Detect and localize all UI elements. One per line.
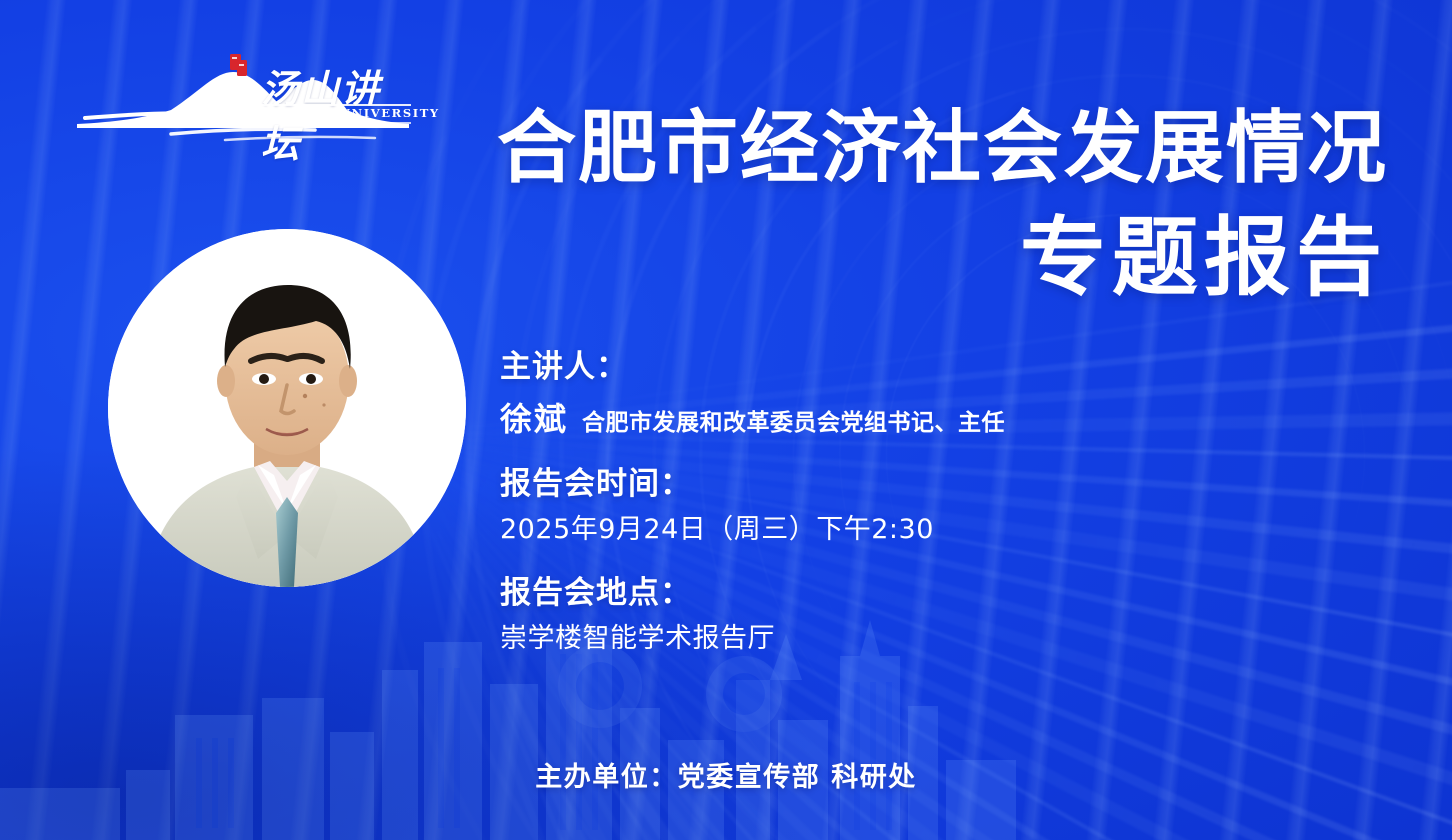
organizers-line: 主办单位：党委宣传部 科研处 <box>0 755 1452 794</box>
speaker-row: 徐斌 合肥市发展和改革委员会党组书记、主任 <box>500 394 1360 440</box>
speaker-photo <box>108 229 466 659</box>
place-label: 报告会地点： <box>500 571 1360 616</box>
time-label: 报告会时间： <box>500 462 1360 507</box>
place-value: 崇学楼智能学术报告厅 <box>500 618 1360 660</box>
event-poster: 汤山讲坛 CHAOHU UNIVERSITY 合肥市经济社会发展情况 专题报告 <box>0 0 1452 840</box>
title-line-1: 合肥市经济社会发展情况 <box>0 108 1388 189</box>
portrait-circle <box>108 229 466 587</box>
speaker-portrait <box>108 229 466 659</box>
event-details: 主讲人： 徐斌 合肥市发展和改革委员会党组书记、主任 报告会时间： 2025年9… <box>500 345 1360 660</box>
speaker-title: 合肥市发展和改革委员会党组书记、主任 <box>582 403 1005 437</box>
speaker-label: 主讲人： <box>500 345 1360 390</box>
speaker-name: 徐斌 <box>500 394 568 440</box>
time-value: 2025年9月24日（周三）下午2:30 <box>500 509 1360 551</box>
